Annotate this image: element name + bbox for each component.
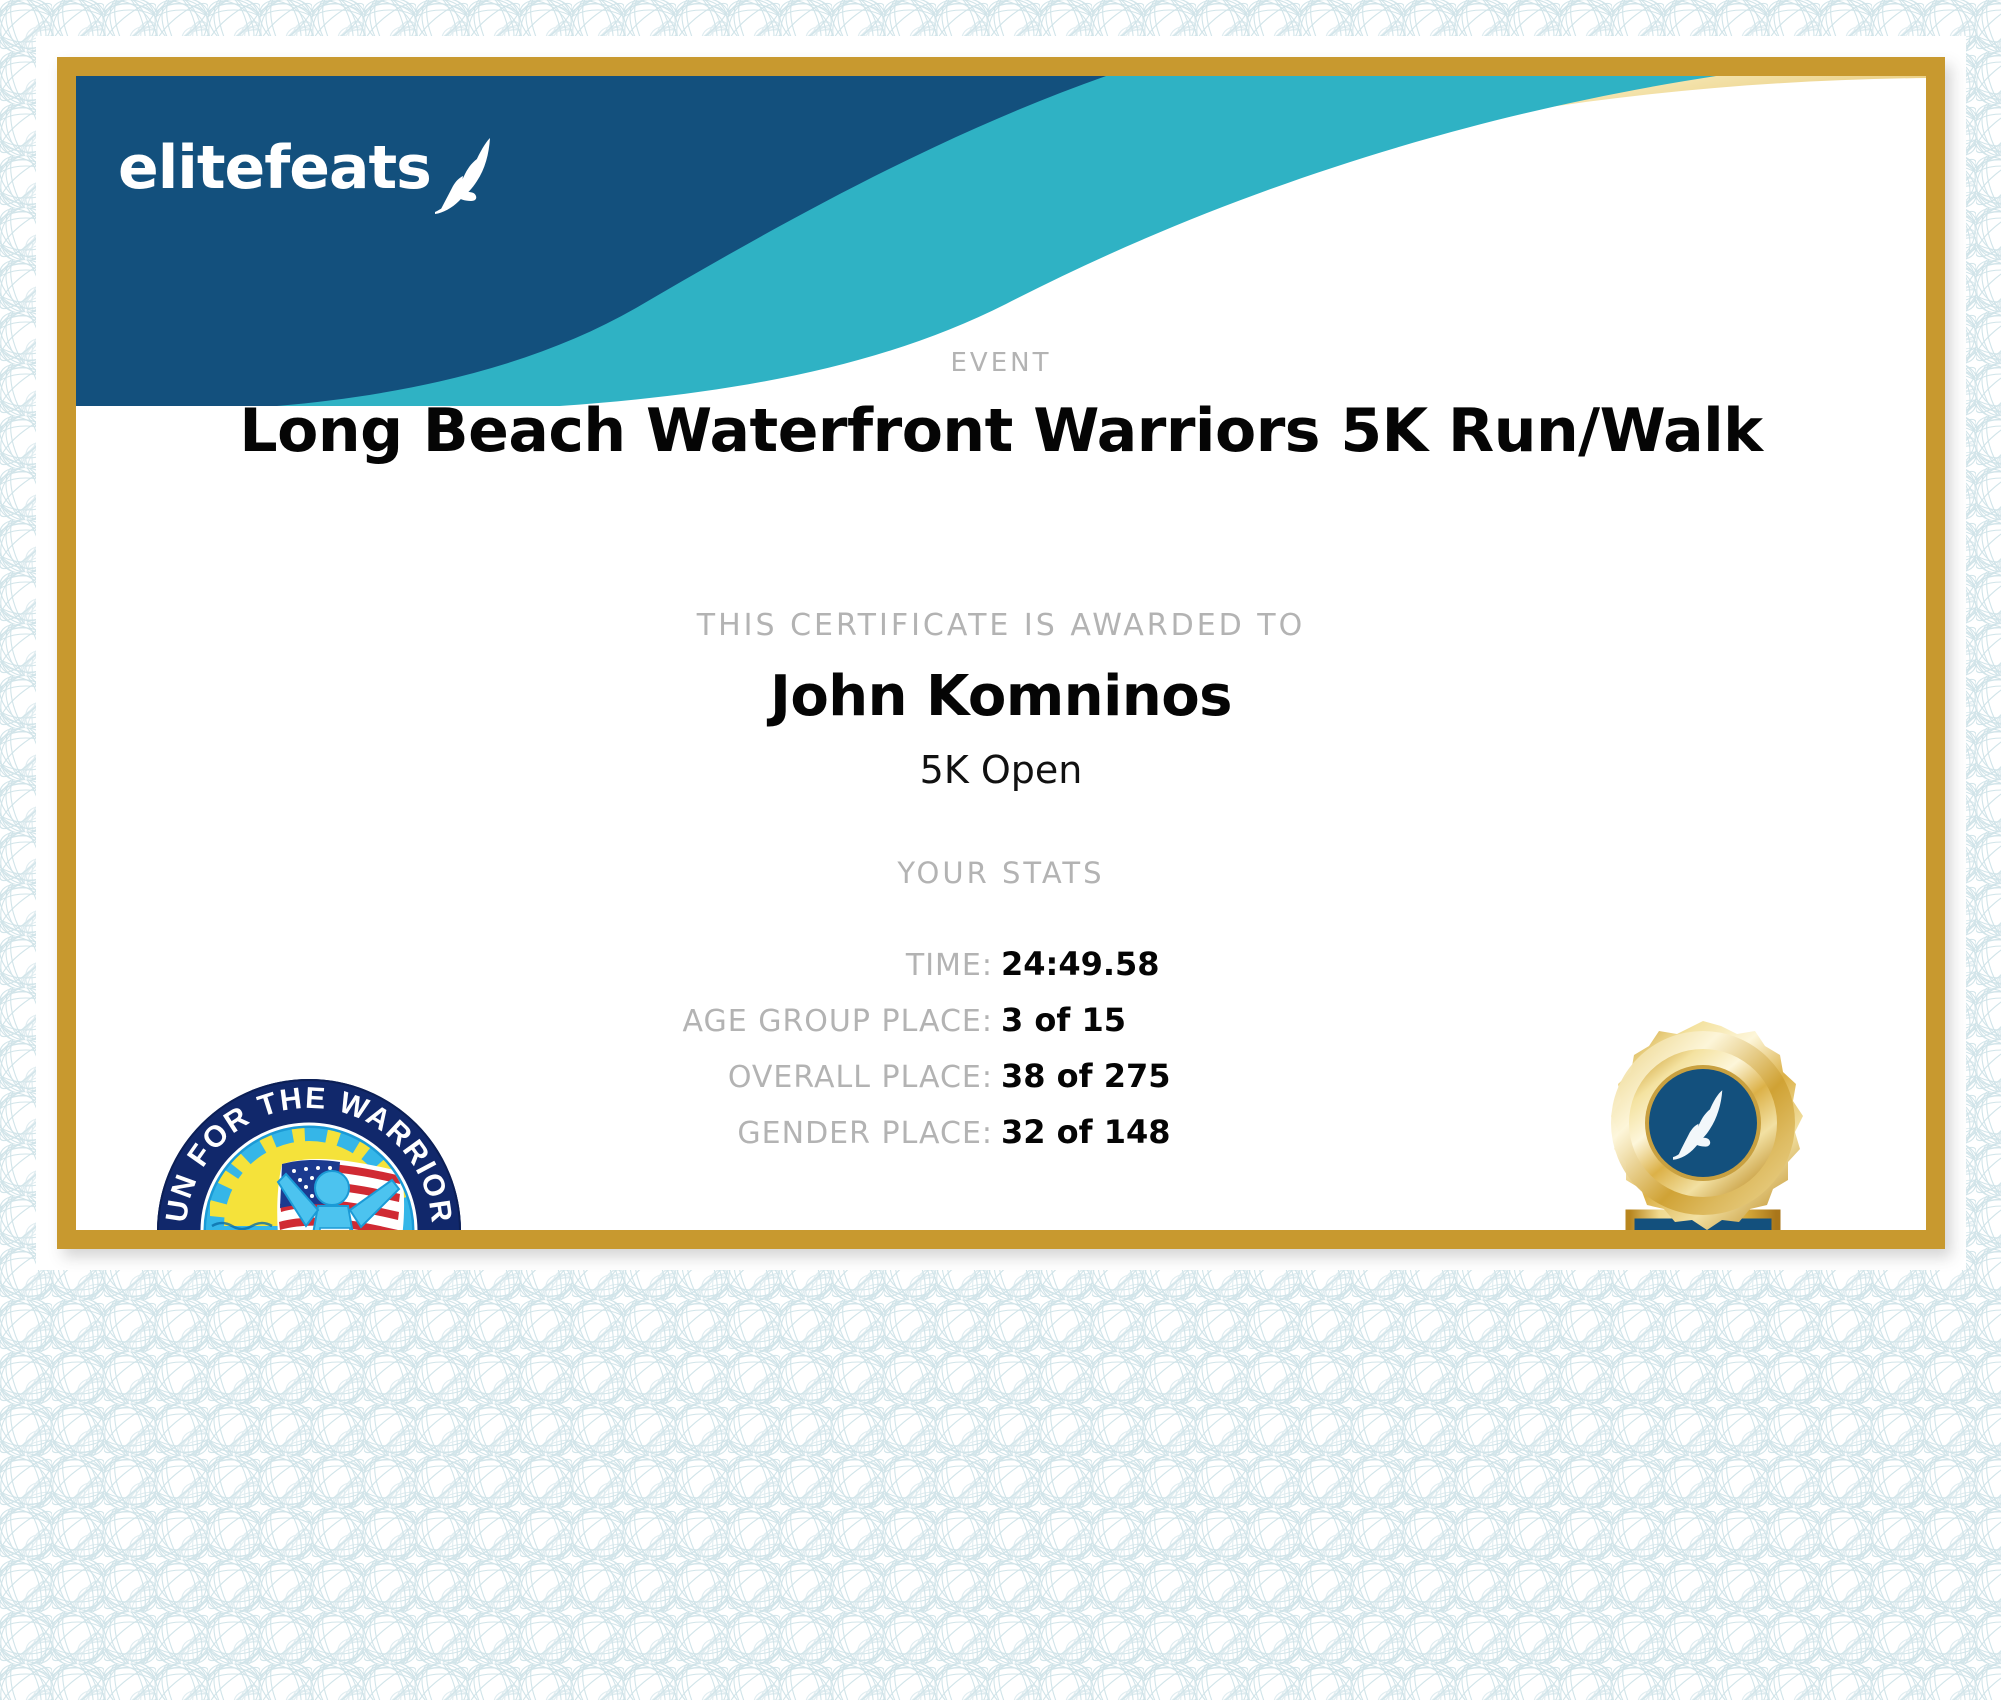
brand-wordmark: elitefeats <box>118 138 431 198</box>
recipient-name: John Komninos <box>76 664 1926 729</box>
finisher-medal: 2025 <box>1538 1006 1868 1230</box>
event-title: Long Beach Waterfront Warriors 5K Run/Wa… <box>76 396 1926 466</box>
elitefeats-logo: elitefeats <box>118 136 501 198</box>
certificate-frame: elitefeats EVENT Long Beach Waterfront W… <box>57 57 1945 1249</box>
certificate-inner: elitefeats EVENT Long Beach Waterfront W… <box>76 76 1926 1230</box>
event-logo-badge: 9.11.01 RUN FOR THE WARRIORS Waterfront … <box>154 1076 464 1230</box>
awarded-to-label: THIS CERTIFICATE IS AWARDED TO <box>76 608 1926 643</box>
stat-value: 24:49.58 <box>1001 936 1926 992</box>
stat-label: AGE GROUP PLACE: <box>76 992 1001 1048</box>
your-stats-label: YOUR STATS <box>76 856 1926 890</box>
winged-foot-icon <box>435 136 501 214</box>
header-swoosh-art <box>76 76 1926 406</box>
stats-row: TIME: 24:49.58 <box>76 936 1926 992</box>
stat-label: TIME: <box>76 936 1001 992</box>
division-label: 5K Open <box>76 748 1926 792</box>
